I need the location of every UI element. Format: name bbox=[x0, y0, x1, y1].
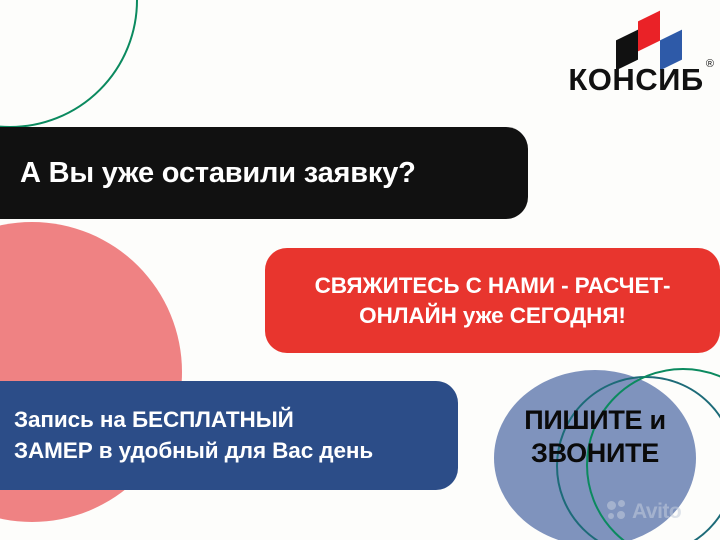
logo-diamond-red-icon bbox=[638, 11, 660, 52]
banner-measurement: Запись на БЕСПЛАТНЫЙ ЗАМЕР в удобный для… bbox=[0, 381, 458, 490]
avito-dots-icon bbox=[607, 500, 629, 522]
green-circle-outline-topleft bbox=[0, 0, 138, 128]
callout-write-and-call: ПИШИТЕ и ЗВОНИТЕ bbox=[494, 404, 696, 470]
avito-watermark: Avito bbox=[607, 500, 681, 522]
banner-measurement-line-1: Запись на БЕСПЛАТНЫЙ bbox=[14, 407, 294, 432]
callout-line-1: ПИШИТЕ и bbox=[494, 404, 696, 437]
banner-question-text: А Вы уже оставили заявку? bbox=[20, 157, 416, 190]
banner-contact-text: СВЯЖИТЕСЬ С НАМИ - РАСЧЕТ- ОНЛАЙН уже СЕ… bbox=[315, 271, 671, 331]
banner-contact: СВЯЖИТЕСЬ С НАМИ - РАСЧЕТ- ОНЛАЙН уже СЕ… bbox=[265, 248, 720, 353]
banner-measurement-line-2: ЗАМЕР в удобный для Вас день bbox=[14, 438, 373, 463]
logo-wordmark: КОНСИБ bbox=[560, 64, 712, 95]
banner-question: А Вы уже оставили заявку? bbox=[0, 127, 528, 219]
avito-wordmark: Avito bbox=[632, 501, 681, 522]
banner-contact-line-2: ОНЛАЙН уже СЕГОДНЯ! bbox=[359, 303, 626, 328]
promo-poster: КОНСИБ ® А Вы уже оставили заявку? СВЯЖИ… bbox=[0, 0, 720, 540]
callout-line-2: ЗВОНИТЕ bbox=[494, 437, 696, 470]
konsib-logo: КОНСИБ ® bbox=[560, 14, 712, 106]
banner-contact-line-1: СВЯЖИТЕСЬ С НАМИ - РАСЧЕТ- bbox=[315, 273, 671, 298]
registered-trademark-icon: ® bbox=[706, 58, 714, 70]
logo-mark-group bbox=[614, 14, 694, 68]
banner-measurement-text: Запись на БЕСПЛАТНЫЙ ЗАМЕР в удобный для… bbox=[14, 405, 373, 466]
